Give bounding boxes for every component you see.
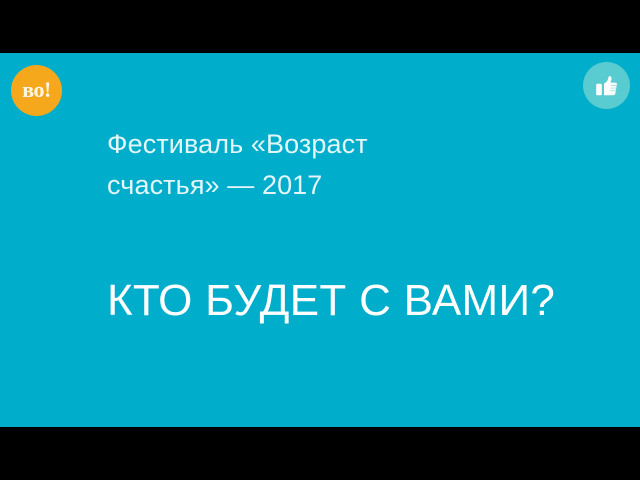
- brand-logo[interactable]: во!: [11, 65, 62, 116]
- brand-logo-label: во!: [22, 79, 51, 101]
- letterbox-bottom-bar: [0, 427, 640, 480]
- letterbox-top-bar: [0, 0, 640, 53]
- slide-canvas: во! Фестиваль «Возраст счастья» — 2017 К…: [0, 53, 640, 427]
- slide-subtitle: Фестиваль «Возраст счастья» — 2017: [107, 124, 527, 206]
- slide-headline: КТО БУДЕТ С ВАМИ?: [107, 275, 627, 327]
- like-button[interactable]: [583, 62, 630, 109]
- thumbs-up-icon: [593, 72, 621, 100]
- video-frame: во! Фестиваль «Возраст счастья» — 2017 К…: [0, 0, 640, 480]
